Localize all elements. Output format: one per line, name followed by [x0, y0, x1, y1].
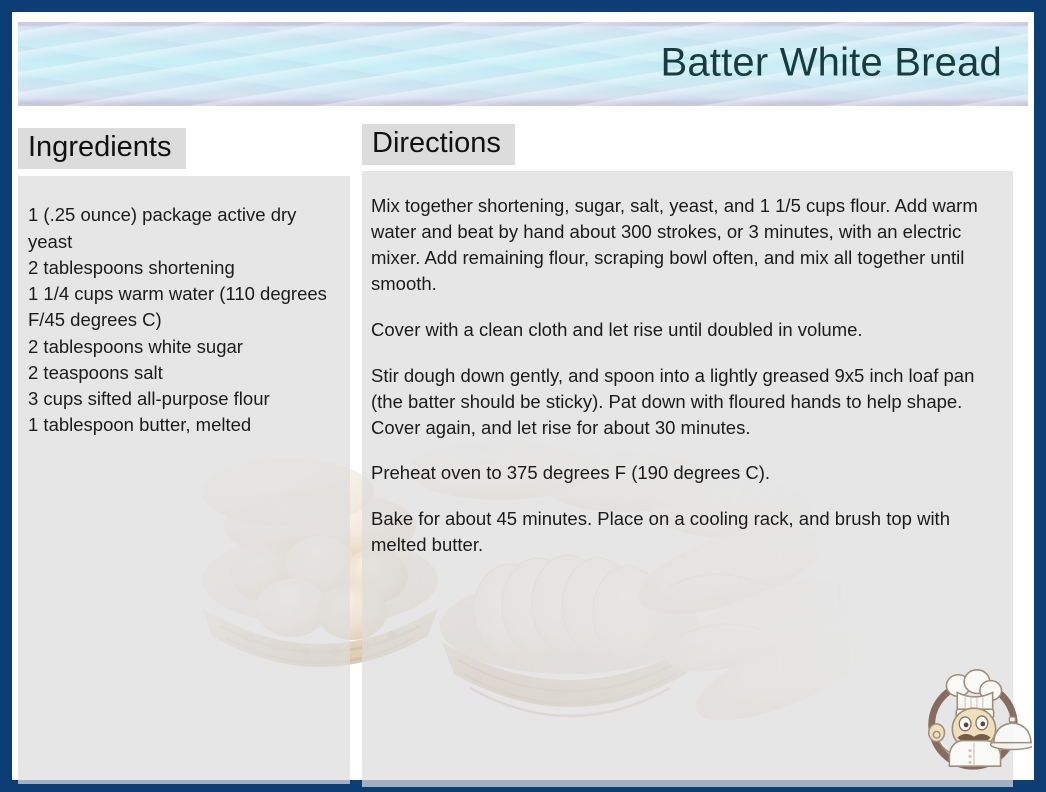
- list-item: 1 1/4 cups warm water (110 degrees F/45 …: [28, 281, 340, 334]
- page-title: Batter White Bread: [660, 41, 1002, 86]
- list-item: 2 tablespoons white sugar: [28, 334, 340, 360]
- direction-step: Mix together shortening, sugar, salt, ye…: [371, 193, 999, 297]
- direction-step: Stir dough down gently, and spoon into a…: [371, 363, 999, 441]
- ingredients-panel: 1 (.25 ounce) package active dry yeast 2…: [18, 176, 350, 784]
- ingredients-list: 1 (.25 ounce) package active dry yeast 2…: [28, 202, 340, 438]
- directions-heading: Directions: [362, 124, 515, 165]
- chef-mascot-logo: [914, 660, 1032, 778]
- recipe-card: Batter White Bread: [0, 0, 1046, 792]
- list-item: 1 (.25 ounce) package active dry yeast: [28, 202, 340, 255]
- list-item: 2 tablespoons shortening: [28, 255, 340, 281]
- title-banner: Batter White Bread: [18, 22, 1028, 106]
- list-item: 2 teaspoons salt: [28, 360, 340, 386]
- ingredients-heading: Ingredients: [18, 128, 186, 169]
- direction-step: Preheat oven to 375 degrees F (190 degre…: [371, 460, 999, 486]
- ingredients-section: Ingredients 1 (.25 ounce) package active…: [18, 128, 350, 784]
- direction-step: Cover with a clean cloth and let rise un…: [371, 317, 999, 343]
- list-item: 1 tablespoon butter, melted: [28, 412, 340, 438]
- direction-step: Bake for about 45 minutes. Place on a co…: [371, 506, 999, 558]
- list-item: 3 cups sifted all-purpose flour: [28, 386, 340, 412]
